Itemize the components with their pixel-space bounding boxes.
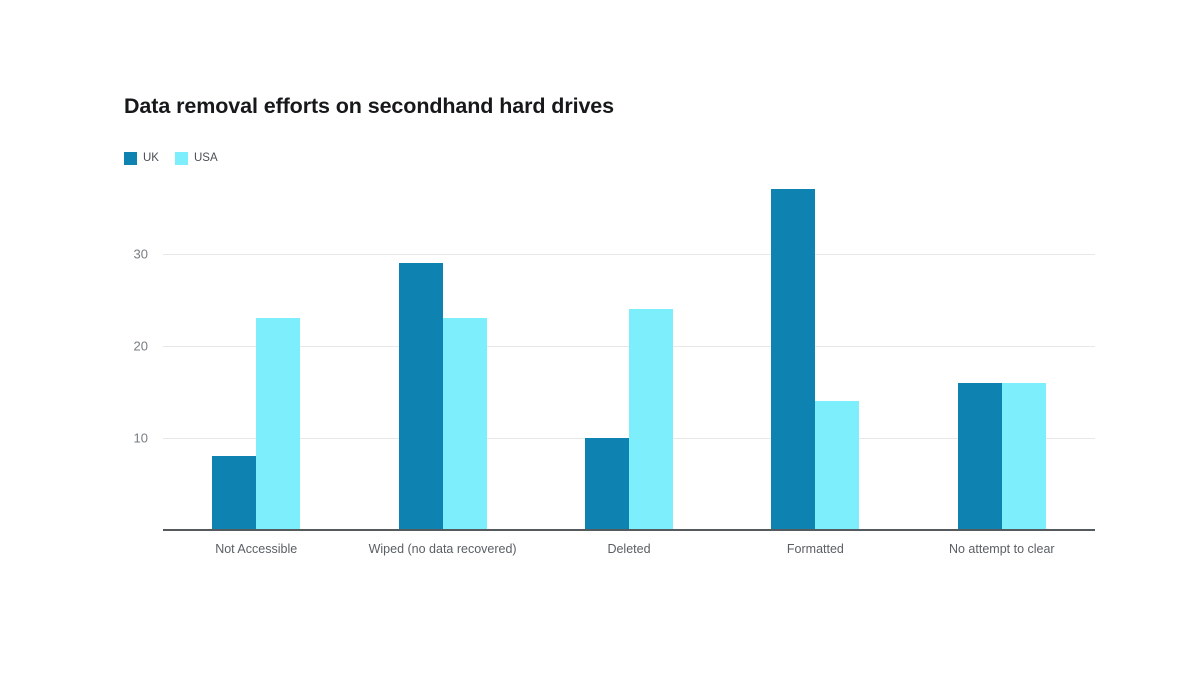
category-label: Formatted	[740, 541, 890, 558]
bar-group	[958, 383, 1046, 530]
y-axis-tick-labels: 102030	[104, 180, 148, 530]
bar-uk[interactable]	[585, 438, 629, 530]
y-tick-label: 20	[108, 338, 148, 353]
category-label: Deleted	[554, 541, 704, 558]
legend-label-uk: UK	[143, 152, 159, 165]
bar-group	[399, 263, 487, 530]
bar-usa[interactable]	[629, 309, 673, 530]
x-axis-line	[163, 529, 1095, 531]
legend-swatch-usa	[175, 152, 188, 165]
legend-label-usa: USA	[194, 152, 218, 165]
bar-uk[interactable]	[958, 383, 1002, 530]
bar-group	[771, 189, 859, 530]
chart-title: Data removal efforts on secondhand hard …	[124, 94, 614, 119]
bar-uk[interactable]	[399, 263, 443, 530]
chart-legend: UK USA	[124, 152, 218, 165]
y-tick-label: 30	[108, 246, 148, 261]
gridline	[163, 254, 1095, 255]
bar-group	[212, 318, 300, 530]
y-tick-label: 10	[108, 430, 148, 445]
bar-group	[585, 309, 673, 530]
category-label: Wiped (no data recovered)	[368, 541, 518, 558]
x-axis-category-labels: Not AccessibleWiped (no data recovered)D…	[163, 541, 1095, 601]
bar-usa[interactable]	[256, 318, 300, 530]
bar-uk[interactable]	[771, 189, 815, 530]
legend-swatch-uk	[124, 152, 137, 165]
chart-container: Data removal efforts on secondhand hard …	[0, 0, 1200, 677]
bar-usa[interactable]	[443, 318, 487, 530]
plot-area	[163, 180, 1095, 530]
category-label: Not Accessible	[181, 541, 331, 558]
bar-usa[interactable]	[815, 401, 859, 530]
bar-uk[interactable]	[212, 456, 256, 530]
legend-item-usa[interactable]: USA	[175, 152, 218, 165]
legend-item-uk[interactable]: UK	[124, 152, 159, 165]
category-label: No attempt to clear	[927, 541, 1077, 558]
bar-usa[interactable]	[1002, 383, 1046, 530]
